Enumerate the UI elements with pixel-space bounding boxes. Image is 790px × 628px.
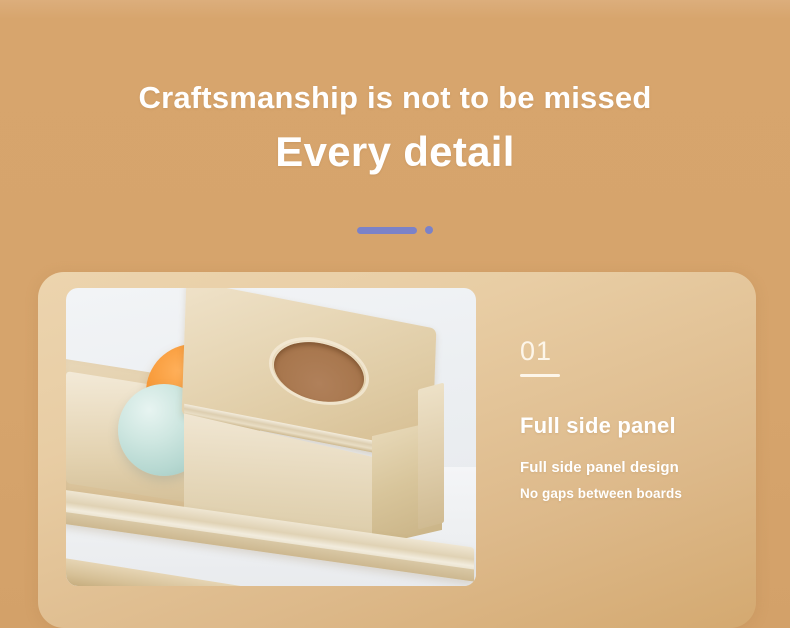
product-photo [66, 288, 476, 586]
feature-number-underline [520, 374, 560, 377]
feature-subtitle-secondary: No gaps between boards [520, 486, 750, 501]
page-title-secondary: Every detail [0, 128, 790, 176]
feature-info: 01 Full side panel Full side panel desig… [520, 338, 750, 501]
box-full-side-panel [418, 383, 444, 530]
feature-subtitle-primary: Full side panel design [520, 459, 750, 476]
divider-bar-icon [357, 227, 417, 234]
divider-dot-icon [425, 226, 433, 234]
heading-block: Craftsmanship is not to be missed Every … [0, 0, 790, 176]
divider [0, 226, 790, 234]
feature-title: Full side panel [520, 413, 750, 439]
page-title-primary: Craftsmanship is not to be missed [0, 80, 790, 116]
feature-card: 01 Full side panel Full side panel desig… [38, 272, 756, 628]
page-background: Craftsmanship is not to be missed Every … [0, 0, 790, 628]
feature-number: 01 [520, 338, 750, 365]
